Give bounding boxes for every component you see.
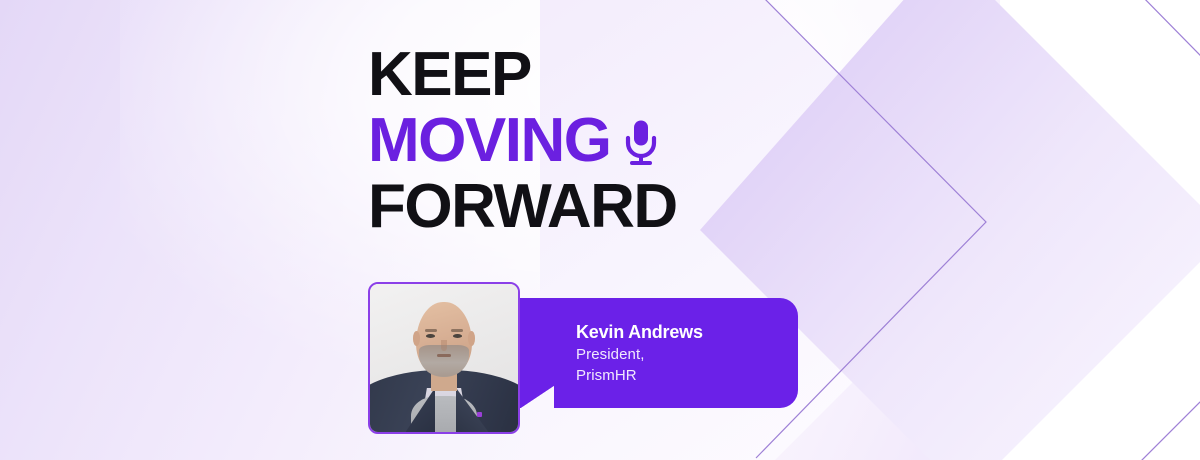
headline-line-forward: FORWARD [368,174,788,240]
podcast-banner: KEEP MOVING FORWARD Kevin Andrews Presid… [0,0,1200,460]
card-corner-notch [518,386,554,410]
headline-line-moving: MOVING [368,108,610,174]
speaker-title-line-2: PrismHR [576,365,798,386]
background-white-panel [1000,0,1200,460]
speaker-photo [370,284,518,432]
headline-block: KEEP MOVING FORWARD [368,42,788,240]
speaker-name-card: Kevin Andrews President, PrismHR [518,298,798,408]
speaker-name: Kevin Andrews [576,320,798,344]
headline-line-keep: KEEP [368,42,788,108]
speaker-block: Kevin Andrews President, PrismHR [368,282,798,434]
speaker-photo-frame: Kevin Andrews headshot [368,282,520,434]
headline-line-moving-row: MOVING [368,108,788,174]
microphone-icon [624,120,658,166]
speaker-title-line-1: President, [576,344,798,365]
